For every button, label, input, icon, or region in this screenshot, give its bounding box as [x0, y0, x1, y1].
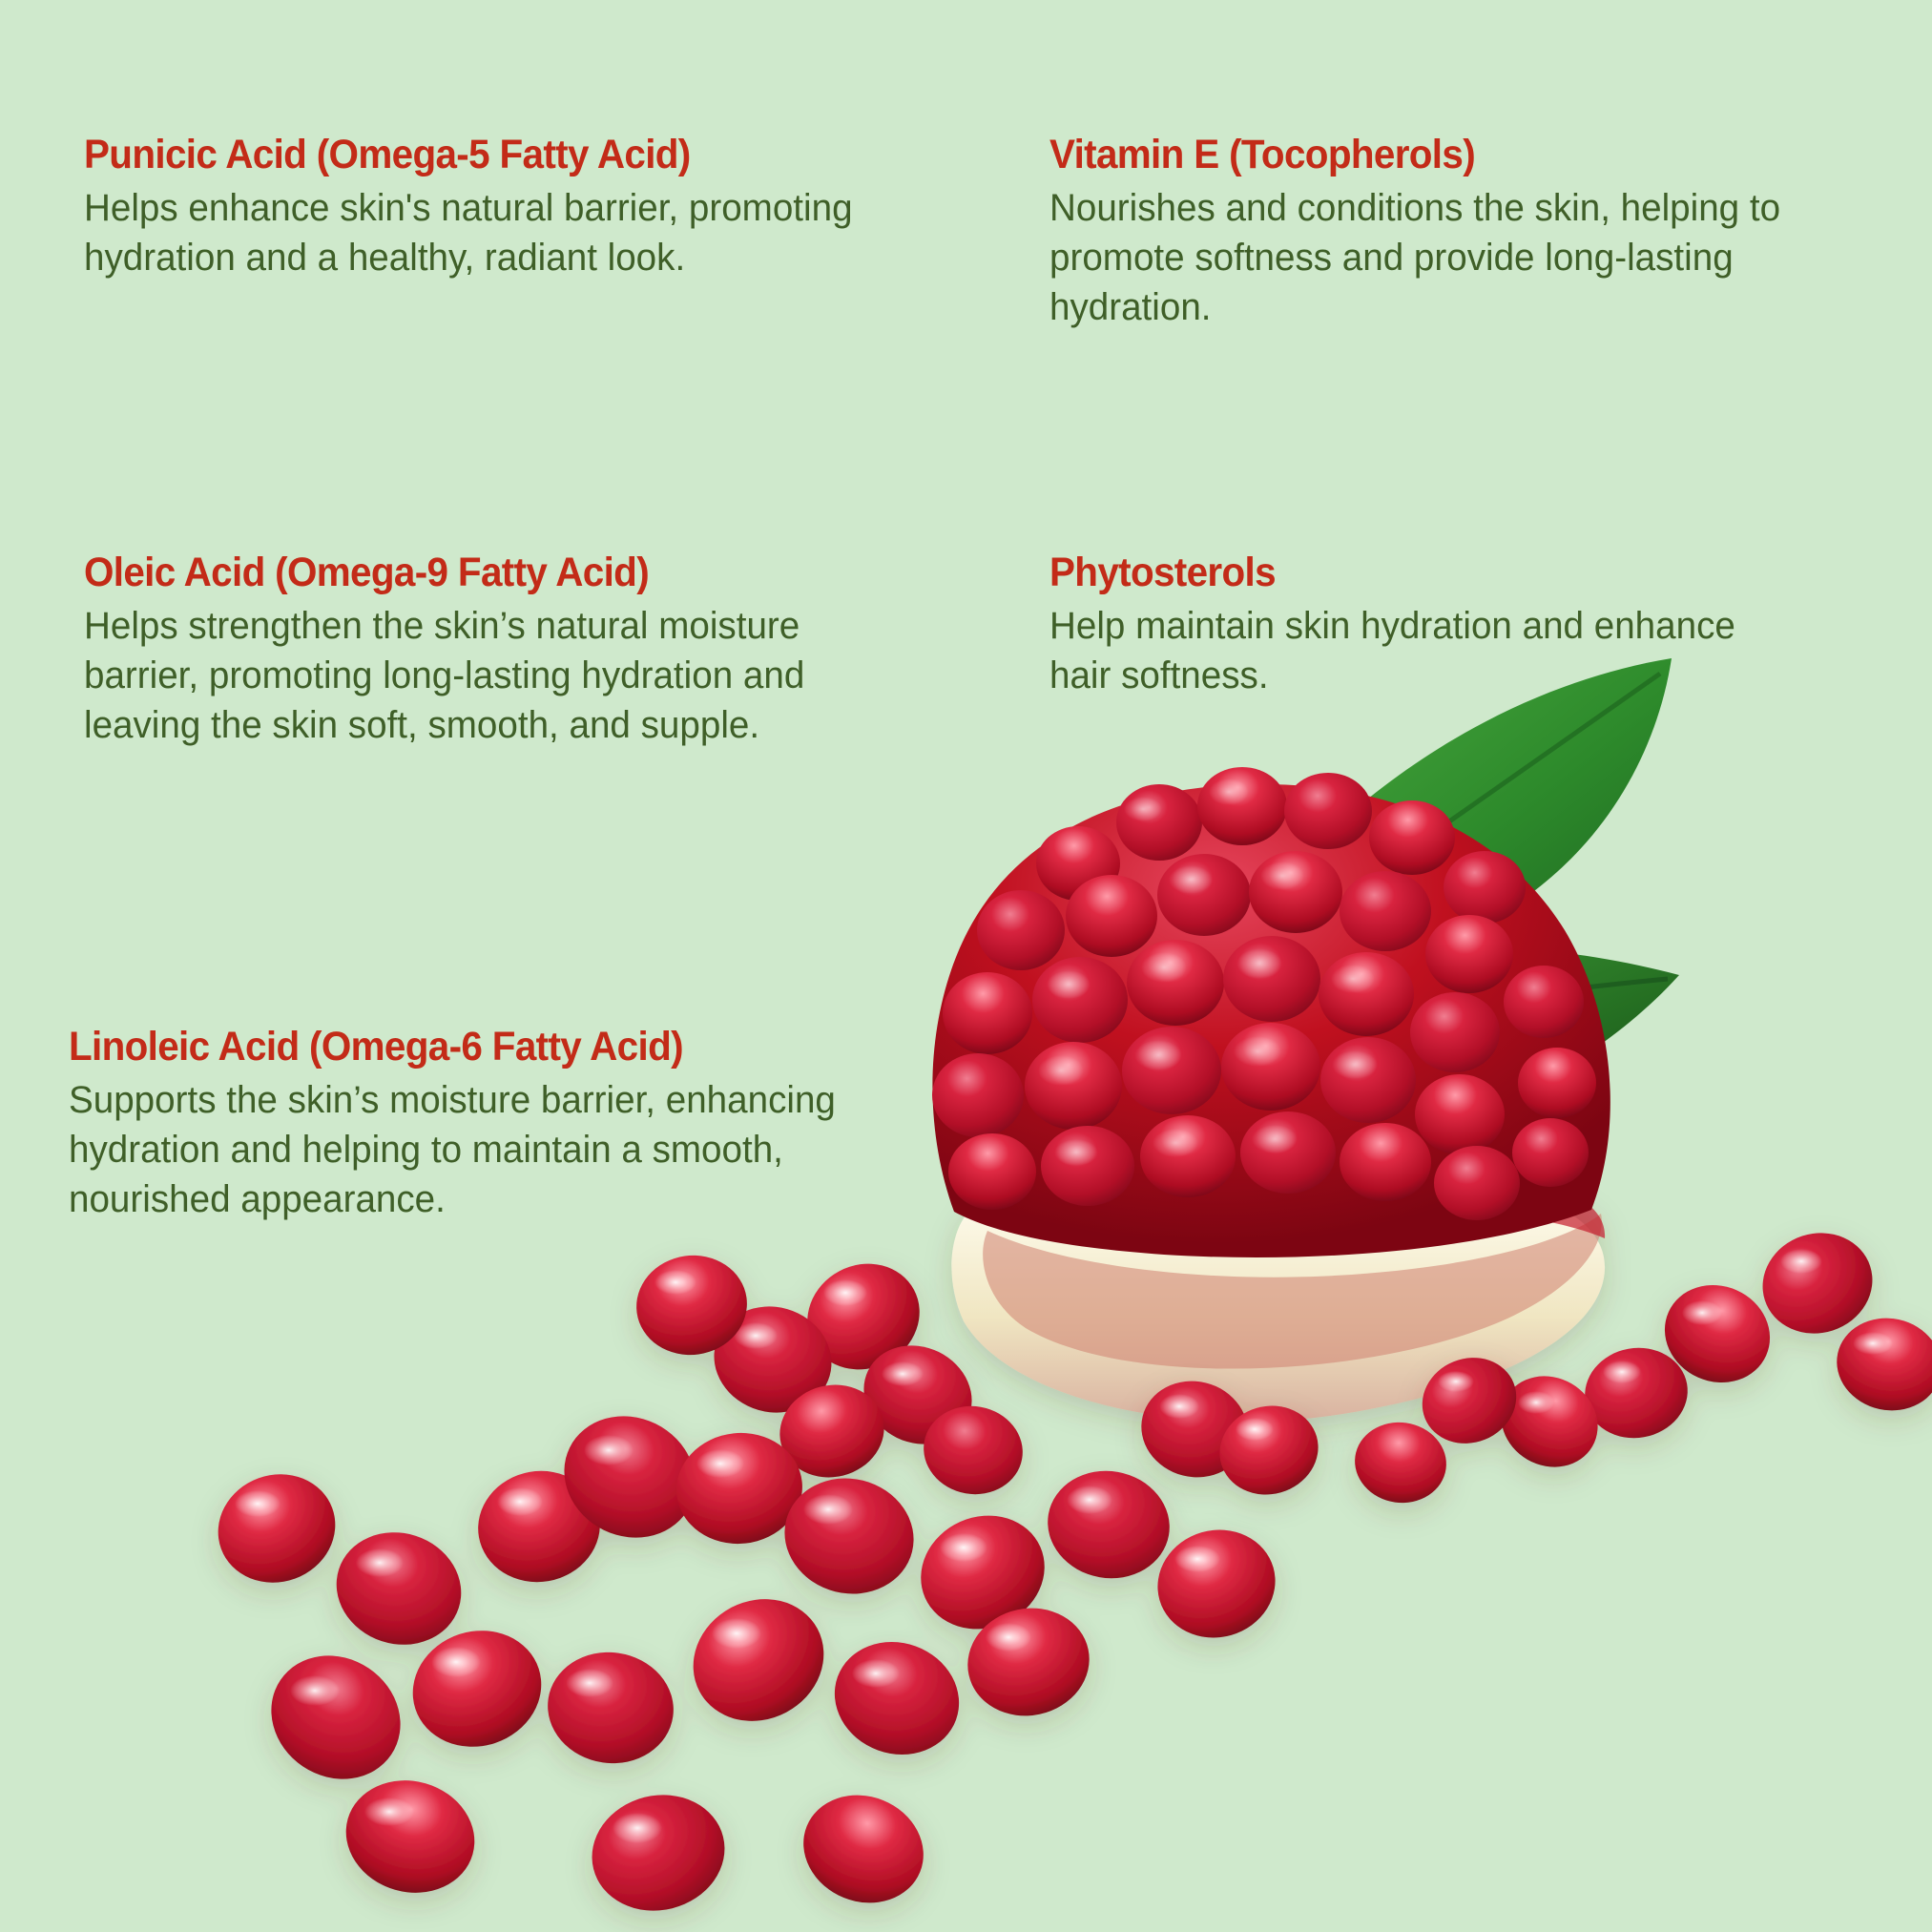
benefit-title: Linoleic Acid (Omega-6 Fatty Acid) — [69, 1024, 876, 1070]
benefit-title: Vitamin E (Tocopherols) — [1049, 132, 1767, 177]
benefit-description: Help maintain skin hydration and enhance… — [1049, 601, 1786, 700]
pomegranate-leaf-upper — [1298, 658, 1672, 951]
benefit-description: Nourishes and conditions the skin, helpi… — [1049, 183, 1786, 332]
benefit-punicic-acid: Punicic Acid (Omega-5 Fatty Acid) Helps … — [84, 132, 924, 282]
scattered-arils — [203, 1219, 1932, 1925]
pomegranate-leaf-lower — [1280, 947, 1679, 1126]
pomegranate-aril-mass — [932, 767, 1610, 1257]
benefit-description: Helps enhance skin's natural barrier, pr… — [84, 183, 894, 282]
benefit-oleic-acid: Oleic Acid (Omega-9 Fatty Acid) Helps st… — [84, 550, 924, 750]
benefit-description: Helps strengthen the skin’s natural mois… — [84, 601, 894, 750]
pomegranate-half — [951, 1167, 1605, 1422]
benefit-phytosterols: Phytosterols Help maintain skin hydratio… — [1049, 550, 1813, 700]
ingredient-benefits-infographic: Punicic Acid (Omega-5 Fatty Acid) Helps … — [0, 0, 1932, 1932]
benefit-title: Phytosterols — [1049, 550, 1767, 595]
benefit-linoleic-acid: Linoleic Acid (Omega-6 Fatty Acid) Suppo… — [69, 1024, 927, 1224]
benefit-vitamin-e: Vitamin E (Tocopherols) Nourishes and co… — [1049, 132, 1813, 332]
aril-facets — [932, 767, 1596, 1220]
benefit-title: Oleic Acid (Omega-9 Fatty Acid) — [84, 550, 873, 595]
benefit-title: Punicic Acid (Omega-5 Fatty Acid) — [84, 132, 873, 177]
benefit-description: Supports the skin’s moisture barrier, en… — [69, 1075, 898, 1224]
aril-highlights — [1038, 779, 1378, 1166]
